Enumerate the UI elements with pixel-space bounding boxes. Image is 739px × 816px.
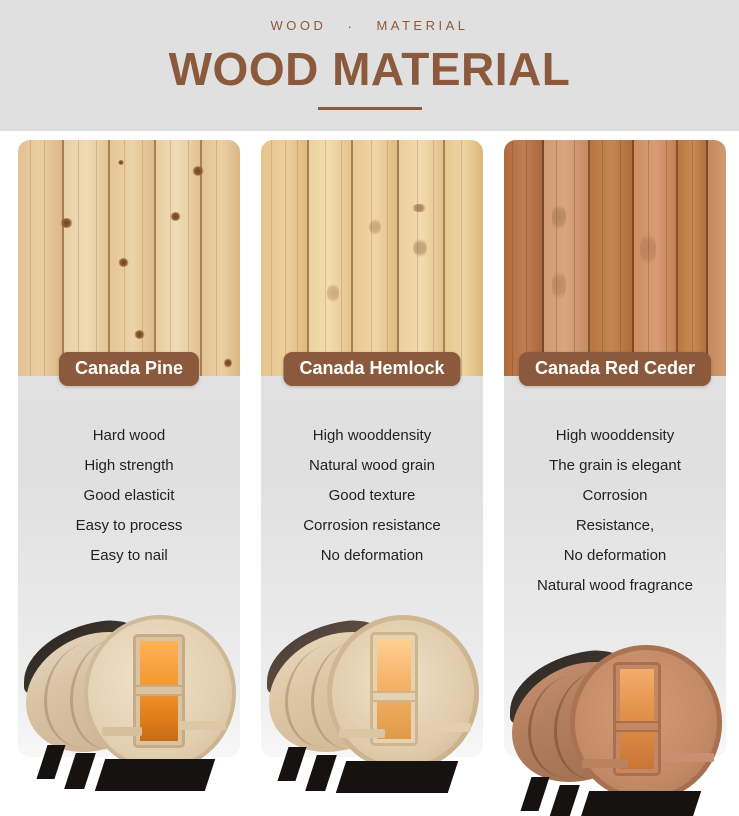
wood-grain-line [271, 140, 272, 376]
sauna-interior-opening[interactable] [373, 635, 415, 743]
wood-grain-line [574, 140, 575, 376]
sauna-product-image-red-cedar [500, 635, 730, 816]
feature-item: Corrosion [504, 481, 726, 511]
feature-item: The grain is elegant [504, 451, 726, 481]
wood-grain-line [371, 140, 372, 376]
wood-grain-line [170, 140, 171, 376]
wood-grain-line [556, 140, 557, 376]
barrel-sauna [257, 605, 487, 800]
sauna-front-face [327, 615, 479, 771]
sauna-door-glass [620, 669, 654, 769]
wood-knot [369, 218, 381, 236]
feature-item: Good elasticit [18, 481, 240, 511]
wood-grain-line [285, 140, 286, 376]
feature-item: High strength [18, 451, 240, 481]
sauna-base-stand [36, 745, 65, 779]
wood-texture-image-hemlock [261, 140, 483, 376]
plank [544, 140, 590, 376]
feature-item: Natural wood fragrance [504, 571, 726, 601]
material-card-pine[interactable]: Canada Pine Hard wood High strength Good… [18, 140, 240, 757]
plank [590, 140, 634, 376]
wood-texture-image-red-cedar [504, 140, 726, 376]
feature-list-hemlock: High wooddensity Natural wood grain Good… [261, 421, 483, 571]
sauna-front-face [84, 615, 236, 771]
feature-item: No deformation [504, 541, 726, 571]
sauna-interior-shelf [373, 693, 415, 700]
feature-list-pine: Hard wood High strength Good elasticit E… [18, 421, 240, 571]
wood-grain-line [44, 140, 45, 376]
sauna-product-image-pine [14, 605, 244, 800]
wood-knot [411, 204, 427, 212]
page-title: WOOD MATERIAL [0, 43, 739, 95]
wood-knot [60, 218, 73, 228]
wood-knot [118, 258, 129, 267]
eyebrow-right: MATERIAL [376, 18, 468, 33]
sauna-base-stand [305, 755, 337, 791]
sauna-base-stand [95, 759, 215, 791]
wood-material-page: WOOD · MATERIAL WOOD MATERIAL [0, 0, 739, 816]
plank [445, 140, 483, 376]
feature-item: No deformation [261, 541, 483, 571]
wood-grain-line [325, 140, 326, 376]
plank [110, 140, 156, 376]
wood-grain-line [433, 140, 434, 376]
plank-group [261, 140, 483, 376]
sauna-bench-left [102, 727, 142, 736]
feature-item: Easy to process [18, 511, 240, 541]
sauna-bench-left [339, 729, 385, 738]
wood-texture-image-pine [18, 140, 240, 376]
plank [202, 140, 240, 376]
feature-item: Hard wood [18, 421, 240, 451]
wood-grain-line [526, 140, 527, 376]
wood-grain-line [216, 140, 217, 376]
wood-grain-line [461, 140, 462, 376]
plank [678, 140, 708, 376]
wood-grain-figure [552, 202, 566, 232]
wood-grain-figure [640, 230, 656, 268]
wood-grain-line [620, 140, 621, 376]
sauna-interior-light [377, 639, 411, 739]
feature-item: Natural wood grain [261, 451, 483, 481]
plank [399, 140, 445, 376]
wood-grain-figure [552, 268, 566, 302]
wood-grain-line [341, 140, 342, 376]
material-badge-red-cedar: Canada Red Ceder [519, 352, 711, 386]
sauna-base-stand [277, 747, 306, 781]
wood-grain-line [512, 140, 513, 376]
material-card-hemlock[interactable]: Canada Hemlock High wooddensity Natural … [261, 140, 483, 757]
page-header: WOOD · MATERIAL WOOD MATERIAL [0, 0, 739, 131]
sauna-door-mullion [616, 723, 658, 730]
wood-knot [327, 282, 339, 304]
wood-grain-line [30, 140, 31, 376]
feature-item: High wooddensity [504, 421, 726, 451]
wood-grain-line [602, 140, 603, 376]
wood-grain-line [142, 140, 143, 376]
wood-knot [134, 330, 145, 339]
sauna-door-mullion [136, 687, 182, 694]
wood-grain-line [417, 140, 418, 376]
sauna-door[interactable] [616, 665, 658, 773]
sauna-base-stand [336, 761, 458, 793]
sauna-bench-right [178, 721, 226, 730]
wood-grain-line [692, 140, 693, 376]
wood-grain-line [666, 140, 667, 376]
title-divider [318, 107, 422, 110]
material-badge-pine: Canada Pine [59, 352, 199, 386]
plank [708, 140, 726, 376]
wood-grain-line [78, 140, 79, 376]
feature-item: Resistance, [504, 511, 726, 541]
wood-knot [170, 212, 181, 221]
plank [309, 140, 353, 376]
plank [504, 140, 544, 376]
wood-grain-line [188, 140, 189, 376]
eyebrow-separator-dot: · [347, 19, 355, 34]
eyebrow-left: WOOD [270, 18, 326, 33]
plank [18, 140, 64, 376]
sauna-base-stand [520, 777, 549, 811]
barrel-sauna [500, 635, 730, 816]
wood-grain-line [387, 140, 388, 376]
sauna-base-stand [64, 753, 96, 789]
material-card-red-cedar[interactable]: Canada Red Ceder High wooddensity The gr… [504, 140, 726, 757]
wood-knot [192, 166, 204, 176]
sauna-product-image-hemlock [257, 605, 487, 800]
wood-knot [118, 160, 124, 165]
feature-item: Good texture [261, 481, 483, 511]
feature-item: High wooddensity [261, 421, 483, 451]
plank [353, 140, 399, 376]
plank [64, 140, 110, 376]
sauna-bench-right [662, 753, 714, 762]
sauna-bench-left [582, 759, 628, 768]
sauna-door[interactable] [136, 637, 182, 745]
feature-item: Corrosion resistance [261, 511, 483, 541]
eyebrow-text: WOOD · MATERIAL [0, 18, 739, 34]
sauna-front-face [570, 645, 722, 801]
plank-group [18, 140, 240, 376]
wood-knot [413, 238, 427, 258]
feature-item: Easy to nail [18, 541, 240, 571]
material-card-list: Canada Pine Hard wood High strength Good… [0, 131, 739, 816]
sauna-bench-right [419, 723, 471, 732]
wood-knot [224, 358, 232, 368]
sauna-base-stand [579, 791, 701, 816]
sauna-base-stand [548, 785, 580, 816]
wood-grain-line [96, 140, 97, 376]
feature-list-red-cedar: High wooddensity The grain is elegant Co… [504, 421, 726, 601]
material-badge-hemlock: Canada Hemlock [283, 352, 460, 386]
plank-group [504, 140, 726, 376]
wood-grain-line [297, 140, 298, 376]
barrel-sauna [14, 605, 244, 800]
